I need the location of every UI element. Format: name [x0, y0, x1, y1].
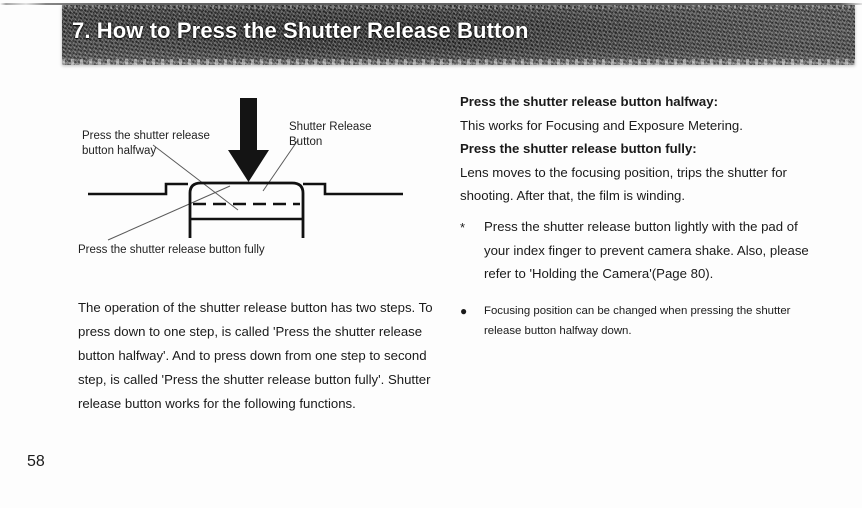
- diagram-label-button-line1: Shutter Release: [289, 120, 371, 135]
- section-title: 7. How to Press the Shutter Release Butt…: [72, 18, 529, 44]
- diagram-illustration: [60, 88, 460, 268]
- bullet-note-text: Focusing position can be changed when pr…: [484, 302, 800, 341]
- page-number: 58: [27, 453, 45, 471]
- bullet-note: ● Focusing position can be changed when …: [460, 302, 800, 341]
- camera-body-left: [88, 184, 188, 194]
- diagram-label-halfway: Press the shutter release button halfway: [82, 129, 210, 159]
- shutter-release-button-outline: [190, 183, 303, 238]
- asterisk-note-text: Press the shutter release button lightly…: [484, 215, 820, 286]
- diagram-label-halfway-line1: Press the shutter release: [82, 129, 210, 144]
- banner-bottom-edge: [62, 59, 855, 65]
- halfway-heading: Press the shutter release button halfway…: [460, 90, 818, 114]
- bullet-marker-icon: ●: [460, 302, 484, 341]
- camera-body-right: [303, 184, 403, 194]
- down-arrow-icon: [228, 98, 269, 182]
- asterisk-marker: *: [460, 215, 484, 286]
- fully-body: Lens moves to the focusing position, tri…: [460, 161, 818, 208]
- shutter-button-diagram: Press the shutter release button halfway…: [60, 88, 460, 268]
- left-column-paragraph: The operation of the shutter release but…: [78, 296, 438, 416]
- diagram-label-fully: Press the shutter release button fully: [78, 243, 265, 258]
- diagram-label-halfway-line2: button halfway: [82, 144, 210, 159]
- halfway-body: This works for Focusing and Exposure Met…: [460, 114, 818, 138]
- right-text-column: Press the shutter release button halfway…: [460, 90, 818, 208]
- fully-heading: Press the shutter release button fully:: [460, 137, 818, 161]
- document-page: 7. How to Press the Shutter Release Butt…: [0, 0, 862, 508]
- section-header-banner: 7. How to Press the Shutter Release Butt…: [62, 5, 855, 65]
- asterisk-note: * Press the shutter release button light…: [460, 215, 820, 286]
- diagram-label-button-line2: Button: [289, 135, 371, 150]
- diagram-label-shutter-release-button: Shutter Release Button: [289, 120, 371, 150]
- left-text-column: The operation of the shutter release but…: [78, 296, 438, 416]
- banner-top-edge: [62, 5, 855, 9]
